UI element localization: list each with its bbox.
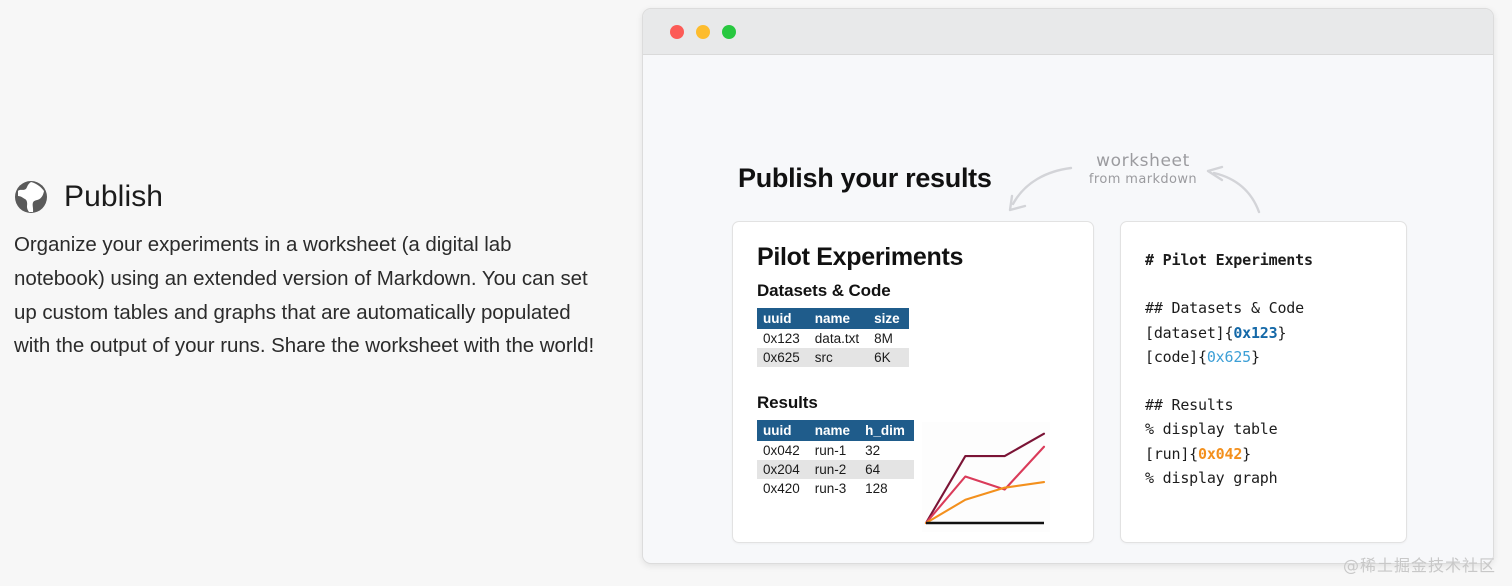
md-blank-line [1145, 272, 1382, 296]
table-row: 0x420 run-3 128 [757, 479, 914, 498]
results-row-container: uuid name h_dim 0x042 run-1 32 0x204 [757, 420, 1069, 532]
annotation-line-1: worksheet [1073, 151, 1213, 171]
md-dataset-suffix: } [1277, 324, 1286, 342]
maximize-button-icon[interactable] [722, 25, 736, 39]
watermark: @稀土掘金技术社区 [1343, 552, 1496, 576]
table-header-row: uuid name h_dim [757, 420, 914, 441]
worksheet-preview-card: Pilot Experiments Datasets & Code uuid n… [732, 221, 1094, 543]
cell-uuid: 0x625 [757, 348, 809, 367]
traffic-lights [670, 25, 736, 39]
datasets-heading: Datasets & Code [757, 281, 1069, 301]
md-line-display-table: % display table [1145, 420, 1277, 438]
markdown-code-block: # Pilot Experiments## Datasets & Code [d… [1145, 248, 1382, 490]
browser-window: Publish your results worksheet from mark… [642, 8, 1494, 564]
md-run-prefix: [run]{ [1145, 445, 1198, 463]
table-header-row: uuid name size [757, 308, 909, 329]
md-line-display-graph: % display graph [1145, 469, 1277, 487]
cell-name: data.txt [809, 329, 868, 348]
cell-name: run-3 [809, 479, 859, 498]
cell-h-dim: 32 [859, 441, 914, 460]
feature-panel: Publish Organize your experiments in a w… [0, 0, 632, 586]
cell-h-dim: 128 [859, 479, 914, 498]
md-dataset-prefix: [dataset]{ [1145, 324, 1233, 342]
column-header-uuid: uuid [757, 308, 809, 329]
annotation-arrows-icon [1001, 140, 1271, 222]
annotation-line-2: from markdown [1073, 172, 1213, 187]
annotation-text: worksheet from markdown [1073, 151, 1213, 187]
column-header-uuid: uuid [757, 420, 809, 441]
table-row: 0x625 src 6K [757, 348, 909, 367]
table-row: 0x204 run-2 64 [757, 460, 914, 479]
md-line-h2-datasets: ## Datasets & Code [1145, 299, 1304, 317]
cell-uuid: 0x420 [757, 479, 809, 498]
md-line-dataset-ref: [dataset]{0x123} [1145, 324, 1286, 342]
cell-uuid: 0x204 [757, 460, 809, 479]
markdown-source-card: # Pilot Experiments## Datasets & Code [d… [1120, 221, 1407, 543]
md-code-prefix: [code]{ [1145, 348, 1207, 366]
cell-name: src [809, 348, 868, 367]
feature-header: Publish [14, 180, 163, 214]
worksheet-annotation: worksheet from markdown [1001, 140, 1271, 222]
md-code-uuid[interactable]: 0x625 [1207, 348, 1251, 366]
minimize-button-icon[interactable] [696, 25, 710, 39]
column-header-h-dim: h_dim [859, 420, 914, 441]
page-title: Publish [64, 182, 163, 212]
cell-size: 8M [868, 329, 909, 348]
md-dataset-uuid[interactable]: 0x123 [1233, 324, 1277, 342]
worksheet-title: Pilot Experiments [757, 243, 1069, 272]
feature-description: Organize your experiments in a worksheet… [14, 228, 600, 363]
globe-icon [14, 180, 48, 214]
md-run-uuid[interactable]: 0x042 [1198, 445, 1242, 463]
column-header-name: name [809, 308, 868, 329]
md-blank-line [1145, 369, 1382, 393]
window-viewport: Publish your results worksheet from mark… [643, 55, 1493, 562]
cell-h-dim: 64 [859, 460, 914, 479]
table-row: 0x123 data.txt 8M [757, 329, 909, 348]
md-run-suffix: } [1242, 445, 1251, 463]
cell-name: run-1 [809, 441, 859, 460]
results-heading: Results [757, 393, 1069, 413]
datasets-table: uuid name size 0x123 data.txt 8M 0x625 s… [757, 308, 909, 367]
cell-uuid: 0x123 [757, 329, 809, 348]
table-row: 0x042 run-1 32 [757, 441, 914, 460]
column-header-name: name [809, 420, 859, 441]
cell-name: run-2 [809, 460, 859, 479]
md-line-code-ref: [code]{0x625} [1145, 348, 1260, 366]
md-line-run-ref: [run]{0x042} [1145, 445, 1251, 463]
window-titlebar [643, 9, 1493, 55]
cell-size: 6K [868, 348, 909, 367]
cell-uuid: 0x042 [757, 441, 809, 460]
md-line-h2-results: ## Results [1145, 396, 1233, 414]
section-heading: Publish your results [738, 163, 992, 194]
column-header-size: size [868, 308, 909, 329]
md-line-h1: # Pilot Experiments [1145, 251, 1313, 269]
results-line-chart [922, 422, 1050, 532]
close-button-icon[interactable] [670, 25, 684, 39]
chart-canvas [922, 422, 1050, 532]
chart-series-run-3 [926, 434, 1044, 523]
results-table: uuid name h_dim 0x042 run-1 32 0x204 [757, 420, 914, 498]
md-code-suffix: } [1251, 348, 1260, 366]
